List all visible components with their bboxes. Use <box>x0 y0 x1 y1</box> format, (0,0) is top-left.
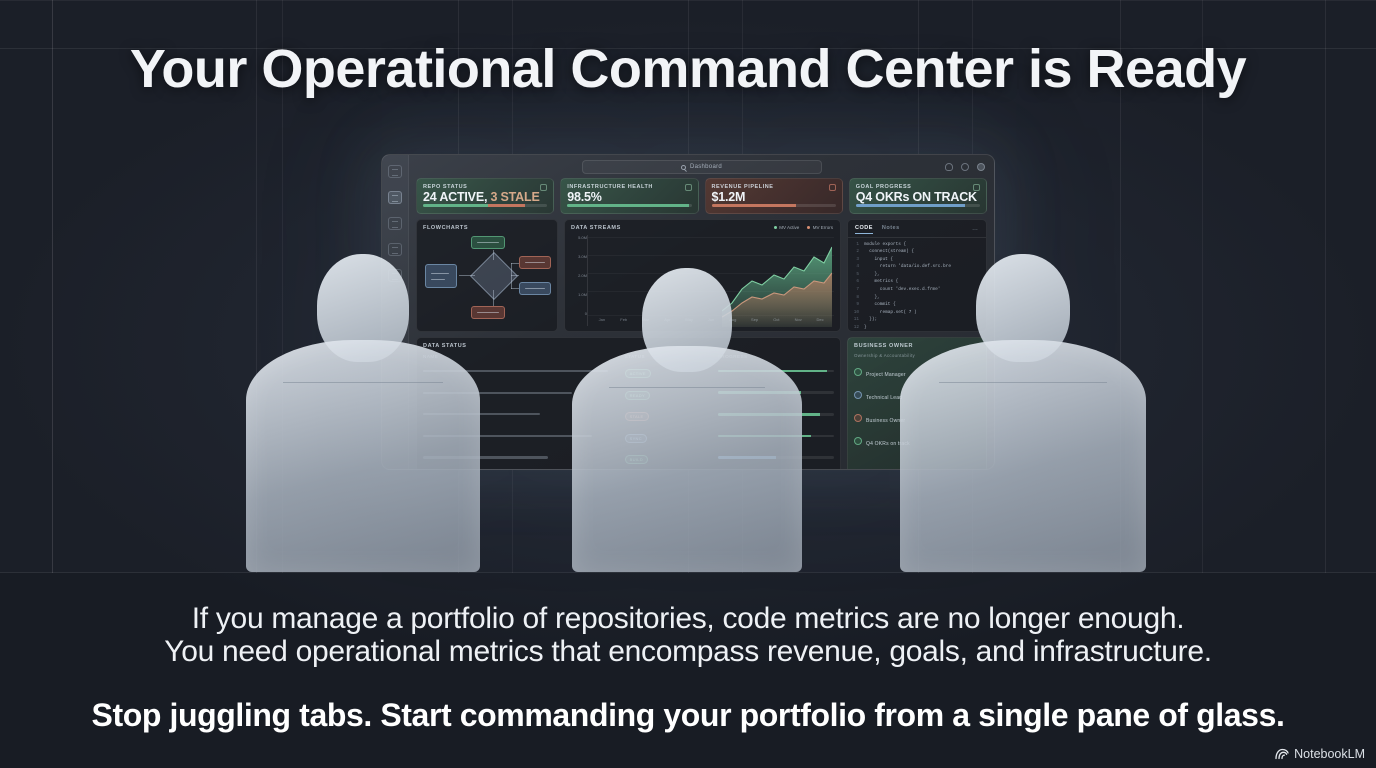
tab-code[interactable]: CODE <box>855 225 873 234</box>
owner-label: Technical Lead <box>866 395 902 401</box>
watermark: NotebookLM <box>1275 747 1365 761</box>
watermark-label: NotebookLM <box>1294 747 1365 761</box>
progress-bar <box>718 435 834 438</box>
bell-icon <box>540 184 547 191</box>
status-badge: STALE <box>625 412 649 421</box>
code-line: 9 commit { <box>853 302 981 308</box>
flowchart-diagram <box>423 234 551 326</box>
flow-node-pass[interactable] <box>471 236 505 249</box>
reports-icon[interactable] <box>388 269 402 282</box>
kpi-progress <box>423 204 547 207</box>
page-title: Your Operational Command Center is Ready <box>0 38 1376 100</box>
dashboard-screen: Dashboard REPO STATUS 24 ACTIVE, <box>381 154 995 470</box>
person-icon <box>854 414 862 422</box>
kpi-progress <box>567 204 691 207</box>
code-line: 11 }); <box>853 317 981 323</box>
flow-arrow <box>511 263 519 264</box>
flowcharts-panel: FLOWCHARTS <box>416 219 558 332</box>
code-line: 3 input { <box>853 257 981 263</box>
code-line: 10 remap.set( 7 ) <box>853 310 981 316</box>
code-line: 1module exports { <box>853 242 981 248</box>
dashboard-icon[interactable] <box>388 191 402 204</box>
copy-line-2: You need operational metrics that encomp… <box>0 635 1376 668</box>
owner-label: Business Owner <box>866 418 905 424</box>
x-axis: Jan Feb Mar Apr May Jun Aug Sep Oct No <box>591 317 831 326</box>
code-panel: CODE Notes … 1module exports { 2 connect… <box>847 219 987 332</box>
x-tick: Nov <box>787 317 809 326</box>
x-tick: Jun <box>700 317 722 326</box>
apps-icon[interactable] <box>388 165 402 178</box>
flow-node-store[interactable] <box>519 282 551 295</box>
flow-arrow <box>511 288 519 289</box>
help-icon[interactable] <box>961 163 969 171</box>
avatar-icon[interactable] <box>977 163 985 171</box>
code-line: 5 }, <box>853 272 981 278</box>
flow-node-alert[interactable] <box>519 256 551 269</box>
target-icon <box>973 184 980 191</box>
table-row[interactable]: BUILD <box>423 448 834 466</box>
kpi-value-main: 24 ACTIVE, <box>423 190 487 204</box>
plot: Jan Feb Mar Apr May Jun Aug Sep Oct No <box>587 235 834 326</box>
notebooklm-spiral-icon <box>1275 748 1289 760</box>
legend-label: MV Errors <box>813 225 833 230</box>
person-icon <box>854 368 862 376</box>
progress-bar <box>718 456 834 459</box>
data-streams-panel: DATA STREAMS MV Active MV Errors 5.0M 3.… <box>564 219 841 332</box>
owner-label: Q4 OKRs on track <box>866 441 910 447</box>
kpi-row: REPO STATUS 24 ACTIVE, 3 STALE INFRASTRU… <box>416 178 987 214</box>
flow-arrow <box>493 250 494 260</box>
sidebar-rail <box>382 155 409 469</box>
owner-row[interactable]: Q4 OKRs on track <box>854 432 980 450</box>
kpi-progress <box>856 204 980 207</box>
progress-bar <box>718 413 834 416</box>
grid-line-h <box>0 572 1376 573</box>
panel-title: FLOWCHARTS <box>423 225 551 231</box>
table-row[interactable]: READY <box>423 384 834 402</box>
y-tick: 0 <box>571 311 587 316</box>
search-input[interactable]: Dashboard <box>582 160 822 174</box>
x-tick: Feb <box>613 317 635 326</box>
settings-icon[interactable] <box>388 243 402 256</box>
flow-arrow <box>493 290 494 306</box>
y-tick: 5.0M <box>571 235 587 240</box>
code-line: 7 count 'dev.exec.d.frme' <box>853 287 981 293</box>
table-row[interactable]: ACTIVE <box>423 362 834 380</box>
body-copy: If you manage a portfolio of repositorie… <box>0 602 1376 668</box>
legend-item: MV Errors <box>807 225 833 230</box>
panel-title: BUSINESS OWNER <box>854 343 980 349</box>
business-owner-panel: BUSINESS OWNER Ownership & Accountabilit… <box>847 337 987 471</box>
owner-row[interactable]: Technical Lead <box>854 386 980 404</box>
table-header: NAME STATUS PROGRESS <box>423 354 834 359</box>
dashboard-topbar: Dashboard <box>416 160 987 174</box>
kpi-value: 24 ACTIVE, 3 STALE <box>423 190 547 204</box>
code-line: 2 connect(stream) { <box>853 249 981 255</box>
chart-plot-area: 5.0M 3.0M 2.0M 1.0M 0 <box>571 235 834 326</box>
code-body[interactable]: 1module exports { 2 connect(stream) { 3 … <box>848 238 986 332</box>
progress-bar <box>718 391 834 394</box>
person-icon <box>854 391 862 399</box>
flow-arrow <box>511 263 512 289</box>
data-status-panel: DATA STATUS NAME STATUS PROGRESS ACTIVE <box>416 337 841 471</box>
overflow-menu-icon[interactable]: … <box>972 226 979 232</box>
bar-series <box>591 237 709 316</box>
x-tick: Apr <box>656 317 678 326</box>
status-badge: ACTIVE <box>625 369 651 378</box>
x-tick: Dec <box>809 317 831 326</box>
area-series <box>722 237 832 327</box>
x-tick: Oct <box>766 317 788 326</box>
kpi-value-main: Q4 OKRs ON TRACK <box>856 190 980 204</box>
kpi-value-main: 98.5% <box>567 190 691 204</box>
status-badge: SYNC <box>625 434 647 443</box>
kpi-value-muted: 3 STALE <box>491 190 540 204</box>
code-tabs: CODE Notes … <box>848 220 986 238</box>
tagline: Stop juggling tabs. Start commanding you… <box>0 697 1376 734</box>
legend-label: MV Active <box>779 225 799 230</box>
slide-canvas: Your Operational Command Center is Ready… <box>0 0 1376 768</box>
topbar-icons <box>945 163 985 171</box>
copy-line-1: If you manage a portfolio of repositorie… <box>0 602 1376 635</box>
kpi-card-goal-progress[interactable]: GOAL PROGRESS Q4 OKRs ON TRACK <box>849 178 987 214</box>
owner-row[interactable]: Project Manager <box>854 363 980 381</box>
column-header-progress: PROGRESS <box>718 354 834 359</box>
flow-node-fail[interactable] <box>471 306 505 319</box>
people-icon[interactable] <box>388 217 402 230</box>
status-badge: READY <box>625 391 650 400</box>
y-axis: 5.0M 3.0M 2.0M 1.0M 0 <box>571 235 587 326</box>
x-tick: Jan <box>591 317 613 326</box>
owner-label: Project Manager <box>866 372 906 378</box>
column-header-name: NAME <box>423 354 625 359</box>
x-tick: May <box>678 317 700 326</box>
panel-subtitle: Ownership & Accountability <box>854 353 980 358</box>
flow-arrow <box>459 275 475 276</box>
owner-row[interactable]: Business Owner <box>854 409 980 427</box>
tab-notes[interactable]: Notes <box>882 225 900 233</box>
kpi-card-revenue-pipeline[interactable]: REVENUE PIPELINE $1.2M <box>705 178 843 214</box>
code-line: 8 }, <box>853 295 981 301</box>
kpi-value-main: $1.2M <box>712 190 836 204</box>
table-row[interactable]: SYNC <box>423 427 834 445</box>
kpi-card-infrastructure-health[interactable]: INFRASTRUCTURE HEALTH 98.5% <box>560 178 698 214</box>
shield-icon <box>685 184 692 191</box>
chart-legend: MV Active MV Errors <box>774 225 833 230</box>
column-header-status: STATUS <box>625 354 718 359</box>
code-line: 4 return 'data/io.def.src.bre <box>853 264 981 270</box>
legend-item: MV Active <box>774 225 800 230</box>
search-icon <box>681 165 686 170</box>
kpi-card-repo-status[interactable]: REPO STATUS 24 ACTIVE, 3 STALE <box>416 178 554 214</box>
y-tick: 1.0M <box>571 292 587 297</box>
x-tick: Mar <box>635 317 657 326</box>
kpi-progress <box>712 204 836 207</box>
flow-arrow <box>511 275 519 276</box>
flow-node-source[interactable] <box>425 264 457 288</box>
code-line: 12} <box>853 325 981 331</box>
x-tick: Sep <box>744 317 766 326</box>
table-row[interactable]: STALE <box>423 405 834 423</box>
search-placeholder: Dashboard <box>690 164 722 170</box>
x-tick: Aug <box>722 317 744 326</box>
wallet-icon <box>829 184 836 191</box>
panel-title: DATA STATUS <box>423 343 834 349</box>
y-tick: 2.0M <box>571 273 587 278</box>
status-badge: BUILD <box>625 455 648 464</box>
target-icon <box>854 437 862 445</box>
bell-icon[interactable] <box>945 163 953 171</box>
progress-bar <box>718 370 834 373</box>
y-tick: 3.0M <box>571 254 587 259</box>
code-line: 6 metrics { <box>853 279 981 285</box>
